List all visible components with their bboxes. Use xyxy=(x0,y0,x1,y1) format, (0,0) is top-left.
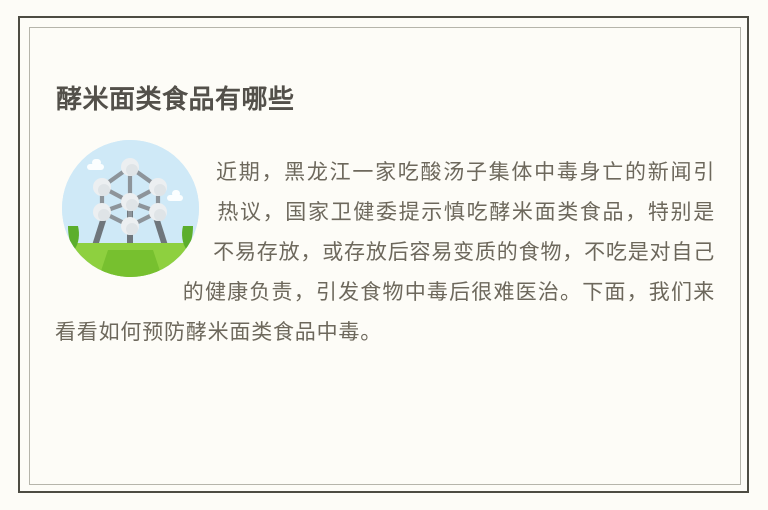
atomium-landmark-illustration xyxy=(62,140,199,277)
document-page: 酵米面类食品有哪些 xyxy=(0,0,768,510)
article-body: 近期，黑龙江一家吃酸汤子集体中毒身亡的新闻引热议，国家卫健委提示慎吃酵米面类食品… xyxy=(55,132,715,374)
grass-wedge xyxy=(99,250,162,277)
page-title: 酵米面类食品有哪些 xyxy=(56,81,295,117)
article-content: 酵米面类食品有哪些 xyxy=(0,0,768,510)
